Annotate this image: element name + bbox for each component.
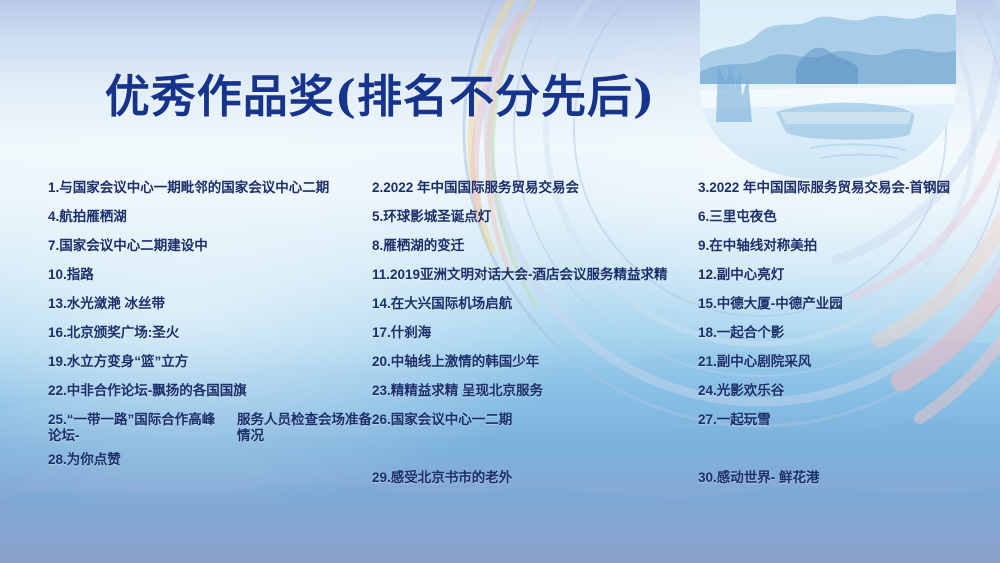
award-item[interactable]: 23.精精益求精 呈现北京服务 — [372, 381, 690, 410]
award-item-label: 9.在中轴线对称美拍 — [698, 238, 817, 254]
award-item[interactable]: 3.2022 年中国国际服务贸易交易会-首钢园 — [698, 178, 998, 207]
award-row-spacer — [372, 439, 690, 468]
award-item-label: 1.与国家会议中心一期毗邻的国家会议中心二期 — [48, 180, 329, 196]
award-item[interactable]: 6.三里屯夜色 — [698, 207, 998, 236]
award-item-label: 7.国家会议中心二期建设中 — [48, 238, 208, 254]
award-item-label: 21.副中心剧院采风 — [698, 354, 811, 370]
award-item[interactable]: 17.什刹海 — [372, 323, 690, 352]
award-item-label: 10.指路 — [48, 267, 94, 283]
award-item[interactable]: 12.副中心亮灯 — [698, 265, 998, 294]
award-item-label: 28.为你点赞 — [48, 452, 121, 468]
award-item-label: 8.雁栖湖的变迁 — [372, 238, 464, 254]
award-item[interactable]: 24.光影欢乐谷 — [698, 381, 998, 410]
award-item-label: 3.2022 年中国国际服务贸易交易会-首钢园 — [698, 180, 950, 196]
award-item[interactable]: 21.副中心剧院采风 — [698, 352, 998, 381]
title-block: 优秀作品奖(排名不分先后) — [0, 60, 760, 125]
award-item[interactable]: 11.2019亚洲文明对话大会-酒店会议服务精益求精 — [372, 265, 690, 294]
award-item[interactable]: 9.在中轴线对称美拍 — [698, 236, 998, 265]
award-item-label: 12.副中心亮灯 — [698, 267, 784, 283]
award-item-label: 6.三里屯夜色 — [698, 209, 777, 225]
page-title: 优秀作品奖(排名不分先后) — [0, 60, 760, 125]
award-column-2: 2.2022 年中国国际服务贸易交易会5.环球影城圣诞点灯8.雁栖湖的变迁11.… — [372, 178, 690, 497]
award-item[interactable]: 15.中德大厦-中德产业园 — [698, 294, 998, 323]
award-item[interactable]: 19.水立方变身“篮”立方 — [48, 352, 378, 381]
award-item-label: 29.感受北京书市的老外 — [372, 470, 512, 486]
award-item-label-continued: 服务人员检查会场准备情况 — [221, 412, 378, 444]
award-column-3: 3.2022 年中国国际服务贸易交易会-首钢园6.三里屯夜色9.在中轴线对称美拍… — [698, 178, 998, 497]
award-item[interactable]: 13.水光潋滟 冰丝带 — [48, 294, 378, 323]
award-item-label: 11.2019亚洲文明对话大会-酒店会议服务精益求精 — [372, 267, 668, 283]
poster-canvas: 优秀作品奖(排名不分先后) 1.与国家会议中心一期毗邻的国家会议中心二期4.航拍… — [0, 0, 1000, 563]
award-item[interactable]: 18.一起合个影 — [698, 323, 998, 352]
award-item-label: 5.环球影城圣诞点灯 — [372, 209, 491, 225]
award-item-label — [698, 441, 702, 457]
award-row-spacer — [698, 439, 998, 468]
award-item-label: 25.“一带一路”国际合作高峰论坛- — [48, 412, 221, 444]
award-item[interactable]: 1.与国家会议中心一期毗邻的国家会议中心二期 — [48, 178, 378, 207]
award-item[interactable]: 26.国家会议中心一二期 — [372, 410, 690, 439]
award-item-label: 15.中德大厦-中德产业园 — [698, 296, 843, 312]
award-item[interactable]: 30.感动世界- 鲜花港 — [698, 468, 998, 497]
award-list: 1.与国家会议中心一期毗邻的国家会议中心二期4.航拍雁栖湖7.国家会议中心二期建… — [0, 178, 1000, 478]
award-item[interactable]: 29.感受北京书市的老外 — [372, 468, 690, 497]
award-item-label: 30.感动世界- 鲜花港 — [698, 470, 820, 486]
award-item-label: 4.航拍雁栖湖 — [48, 209, 127, 225]
award-item-label: 19.水立方变身“篮”立方 — [48, 354, 188, 370]
award-item[interactable]: 16.北京颁奖广场:圣火 — [48, 323, 378, 352]
award-item-label: 26.国家会议中心一二期 — [372, 412, 512, 428]
award-item[interactable]: 4.航拍雁栖湖 — [48, 207, 378, 236]
award-item-label: 2.2022 年中国国际服务贸易交易会 — [372, 180, 579, 196]
award-item[interactable]: 22.中非合作论坛-飘扬的各国国旗 — [48, 381, 378, 410]
award-column-1: 1.与国家会议中心一期毗邻的国家会议中心二期4.航拍雁栖湖7.国家会议中心二期建… — [48, 178, 378, 479]
award-item-label: 27.一起玩雪 — [698, 412, 771, 428]
award-item[interactable]: 7.国家会议中心二期建设中 — [48, 236, 378, 265]
award-item-label: 24.光影欢乐谷 — [698, 383, 784, 399]
award-item[interactable]: 10.指路 — [48, 265, 378, 294]
award-item[interactable]: 25.“一带一路”国际合作高峰论坛-服务人员检查会场准备情况 — [48, 410, 378, 450]
award-item[interactable]: 27.一起玩雪 — [698, 410, 998, 439]
award-item-label: 14.在大兴国际机场启航 — [372, 296, 512, 312]
award-item[interactable]: 14.在大兴国际机场启航 — [372, 294, 690, 323]
award-item-label: 22.中非合作论坛-飘扬的各国国旗 — [48, 383, 247, 399]
award-item[interactable]: 2.2022 年中国国际服务贸易交易会 — [372, 178, 690, 207]
award-item[interactable]: 5.环球影城圣诞点灯 — [372, 207, 690, 236]
award-item[interactable]: 20.中轴线上激情的韩国少年 — [372, 352, 690, 381]
award-item[interactable]: 28.为你点赞 — [48, 450, 378, 479]
award-item[interactable]: 8.雁栖湖的变迁 — [372, 236, 690, 265]
award-item-label: 13.水光潋滟 冰丝带 — [48, 296, 165, 312]
award-item-label: 20.中轴线上激情的韩国少年 — [372, 354, 539, 370]
award-item-label — [372, 441, 376, 457]
award-item-label: 17.什刹海 — [372, 325, 431, 341]
award-item-label: 18.一起合个影 — [698, 325, 784, 341]
award-item-label: 23.精精益求精 呈现北京服务 — [372, 383, 543, 399]
award-item-label: 16.北京颁奖广场:圣火 — [48, 325, 179, 341]
